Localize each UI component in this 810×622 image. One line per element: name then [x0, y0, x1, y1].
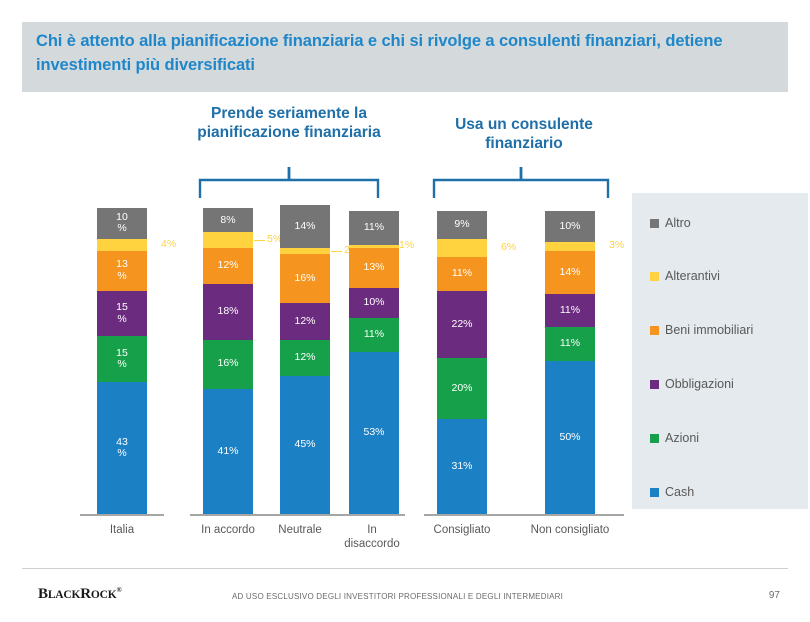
segment-value-label: 43 % [116, 437, 128, 460]
logo-registered-mark: ® [117, 586, 122, 594]
callout-value-label: 4% [161, 238, 176, 250]
legend-item-cash[interactable]: Cash [650, 485, 694, 499]
bar-segment-obbligazioni: 15 % [97, 291, 147, 337]
bar-segment-altro: 9% [437, 211, 487, 239]
bar-segment-azioni: 15 % [97, 336, 147, 382]
bar-segment-obbligazioni: 12% [280, 303, 330, 340]
bar-segment-obbligazioni: 18% [203, 284, 253, 339]
bar-segment-altro: 10% [545, 211, 595, 242]
logo-ock: OCK [91, 589, 117, 601]
legend-item-obbligazioni[interactable]: Obbligazioni [650, 377, 734, 391]
legend-label: Cash [665, 485, 694, 499]
segment-value-label: 11% [560, 338, 580, 349]
bar-segment-azioni: 11% [349, 318, 399, 352]
segment-value-label: 45% [294, 439, 315, 450]
legend-swatch-icon [650, 219, 659, 228]
bar-segment-beni-immobiliari: 14% [545, 251, 595, 294]
legend-label: Altro [665, 216, 691, 230]
bar-segment-beni-immobiliari: 16% [280, 254, 330, 303]
segment-value-label: 16% [294, 273, 315, 284]
bar-segment-alterantivi [437, 239, 487, 257]
blackrock-logo: BLACKROCK® [38, 586, 122, 603]
segment-value-label: 50% [559, 432, 580, 443]
logo-r: R [80, 586, 91, 602]
segment-value-label: 15 % [116, 302, 128, 325]
stacked-bar-non-consigliato: 10%14%11%11%50% [545, 211, 595, 514]
legend-label: Alterantivi [665, 269, 720, 283]
bar-segment-alterantivi [203, 232, 253, 247]
axis-line-1 [190, 514, 405, 516]
bar-segment-obbligazioni: 10% [349, 288, 399, 319]
bar-segment-alterantivi [97, 239, 147, 251]
logo-lack: LACK [48, 589, 80, 601]
callout-value-label: 6% [501, 241, 516, 253]
stacked-bar-consigliato: 9%11%22%20%31% [437, 211, 487, 514]
segment-value-label: 53% [363, 427, 384, 438]
segment-value-label: 13 % [116, 259, 128, 282]
legend-item-alterantivi[interactable]: Alterantivi [650, 269, 720, 283]
page-number: 97 [769, 590, 780, 601]
legend-label: Obbligazioni [665, 377, 734, 391]
bar-segment-altro: 10 % [97, 208, 147, 239]
category-label-consigliato: Consigliato [400, 524, 524, 538]
category-label-italia: Italia [72, 524, 172, 538]
stacked-bar-in-disaccordo: 11%13%10%11%53% [349, 211, 399, 514]
segment-value-label: 9% [454, 219, 469, 230]
bar-segment-altro: 11% [349, 211, 399, 245]
segment-value-label: 10% [559, 221, 580, 232]
bar-segment-cash: 41% [203, 389, 253, 514]
callout-value-label: 1% [399, 239, 414, 251]
segment-value-label: 11% [364, 329, 384, 340]
legend-swatch-icon [650, 488, 659, 497]
bar-segment-beni-immobiliari: 13 % [97, 251, 147, 291]
bar-segment-beni-immobiliari: 12% [203, 248, 253, 285]
segment-value-label: 16% [217, 358, 238, 369]
legend-swatch-icon [650, 272, 659, 281]
logo-b: B [38, 586, 48, 602]
segment-value-label: 11% [452, 268, 472, 279]
bar-segment-altro: 8% [203, 208, 253, 232]
segment-value-label: 10% [363, 297, 384, 308]
segment-value-label: 14% [559, 267, 580, 278]
segment-value-label: 14% [294, 221, 315, 232]
legend-label: Azioni [665, 431, 699, 445]
segment-value-label: 12% [217, 260, 238, 271]
bar-segment-altro: 14% [280, 205, 330, 248]
segment-value-label: 8% [220, 215, 235, 226]
axis-line-2 [424, 514, 624, 516]
legend-item-azioni[interactable]: Azioni [650, 431, 699, 445]
bar-segment-beni-immobiliari: 13% [349, 248, 399, 288]
bar-segment-azioni: 16% [203, 340, 253, 389]
bar-segment-obbligazioni: 11% [545, 294, 595, 328]
footer-divider [22, 568, 788, 569]
stacked-bar-neutrale: 14%16%12%12%45% [280, 205, 330, 514]
bar-segment-alterantivi [545, 242, 595, 251]
segment-value-label: 12% [294, 316, 315, 327]
legend-item-altro[interactable]: Altro [650, 216, 691, 230]
bar-segment-azioni: 20% [437, 358, 487, 419]
category-label-non-consigliato: Non consigliato [508, 524, 632, 538]
bar-segment-cash: 43 % [97, 382, 147, 514]
bar-segment-cash: 31% [437, 419, 487, 514]
segment-value-label: 31% [451, 461, 472, 472]
legend-swatch-icon [650, 434, 659, 443]
callout-leader-line [254, 240, 265, 241]
segment-value-label: 15 % [116, 348, 128, 371]
bar-segment-cash: 45% [280, 376, 330, 514]
bar-segment-azioni: 12% [280, 340, 330, 377]
segment-value-label: 10 % [116, 212, 128, 235]
segment-value-label: 13% [363, 262, 384, 273]
segment-value-label: 12% [294, 352, 315, 363]
segment-value-label: 20% [451, 383, 472, 394]
stacked-bar-italia: 10 %13 %15 %15 %43 % [97, 208, 147, 514]
segment-value-label: 11% [560, 305, 580, 316]
callout-leader-line [331, 251, 342, 252]
bar-segment-cash: 53% [349, 352, 399, 514]
bar-segment-azioni: 11% [545, 327, 595, 361]
bar-segment-beni-immobiliari: 11% [437, 257, 487, 291]
legend-label: Beni immobiliari [665, 323, 753, 337]
segment-value-label: 18% [217, 306, 238, 317]
axis-line-0 [80, 514, 164, 516]
legend-swatch-icon [650, 326, 659, 335]
chart-legend: AltroAlterantiviBeni immobiliariObbligaz… [632, 193, 808, 509]
segment-value-label: 22% [451, 319, 472, 330]
footer-disclaimer: AD USO ESCLUSIVO DEGLI INVESTITORI PROFE… [232, 592, 563, 601]
bar-segment-cash: 50% [545, 361, 595, 514]
segment-value-label: 11% [364, 222, 384, 233]
callout-value-label: 3% [609, 239, 624, 251]
legend-item-beni-immobiliari[interactable]: Beni immobiliari [650, 323, 753, 337]
legend-swatch-icon [650, 380, 659, 389]
segment-value-label: 41% [217, 446, 238, 457]
stacked-bar-in-accordo: 8%12%18%16%41% [203, 208, 253, 514]
bar-segment-obbligazioni: 22% [437, 291, 487, 358]
